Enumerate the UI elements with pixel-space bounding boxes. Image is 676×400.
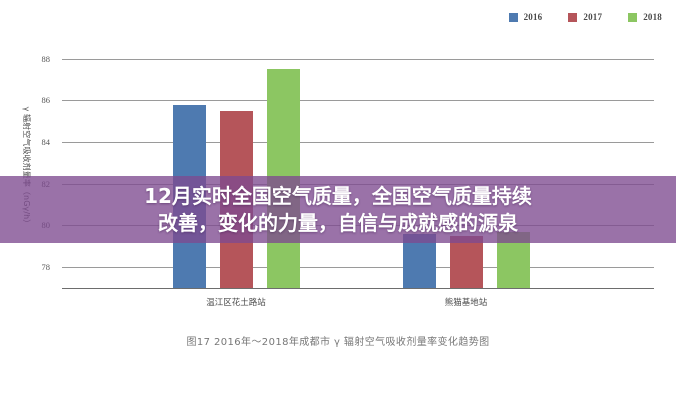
x-axis-label-0: 温江区花土路站 bbox=[206, 296, 266, 308]
overlay-title-band: 12月实时全国空气质量，全国空气质量持续 改善，变化的力量，自信与成就感的源泉 bbox=[0, 176, 676, 243]
legend-label-2018: 2018 bbox=[643, 12, 662, 22]
overlay-title-line-2: 改善，变化的力量，自信与成就感的源泉 bbox=[158, 211, 518, 236]
figure-caption: 图17 2016年～2018年成都市 γ 辐射空气吸收剂量率变化趋势图 bbox=[0, 333, 676, 348]
plot-area: 888684828078 bbox=[62, 46, 654, 288]
y-axis-tick-label: 78 bbox=[6, 262, 50, 272]
legend-swatch-2017 bbox=[568, 13, 577, 22]
y-axis-tick-label: 88 bbox=[6, 54, 50, 64]
chart-legend: 2016 2017 2018 bbox=[509, 12, 662, 22]
legend-label-2016: 2016 bbox=[524, 12, 543, 22]
overlay-title-line-1: 12月实时全国空气质量，全国空气质量持续 bbox=[144, 184, 532, 209]
legend-swatch-2018 bbox=[628, 13, 637, 22]
gridline bbox=[62, 59, 654, 60]
x-axis-line bbox=[62, 288, 654, 289]
gridline bbox=[62, 100, 654, 101]
figure-root: 2016 2017 2018 γ 辐射空气吸收剂量率（nGγ/h） 888684… bbox=[0, 0, 676, 400]
y-axis-title: γ 辐射空气吸收剂量率（nGγ/h） bbox=[18, 46, 32, 288]
x-axis-label-1: 熊猫基地站 bbox=[445, 296, 488, 308]
y-axis-tick-label: 86 bbox=[6, 95, 50, 105]
legend-item-2016: 2016 bbox=[509, 12, 543, 22]
legend-item-2017: 2017 bbox=[568, 12, 602, 22]
legend-item-2018: 2018 bbox=[628, 12, 662, 22]
gridline bbox=[62, 142, 654, 143]
bar-2017-1 bbox=[450, 236, 483, 288]
legend-label-2017: 2017 bbox=[583, 12, 602, 22]
gridline bbox=[62, 267, 654, 268]
legend-swatch-2016 bbox=[509, 13, 518, 22]
y-axis-tick-label: 84 bbox=[6, 137, 50, 147]
